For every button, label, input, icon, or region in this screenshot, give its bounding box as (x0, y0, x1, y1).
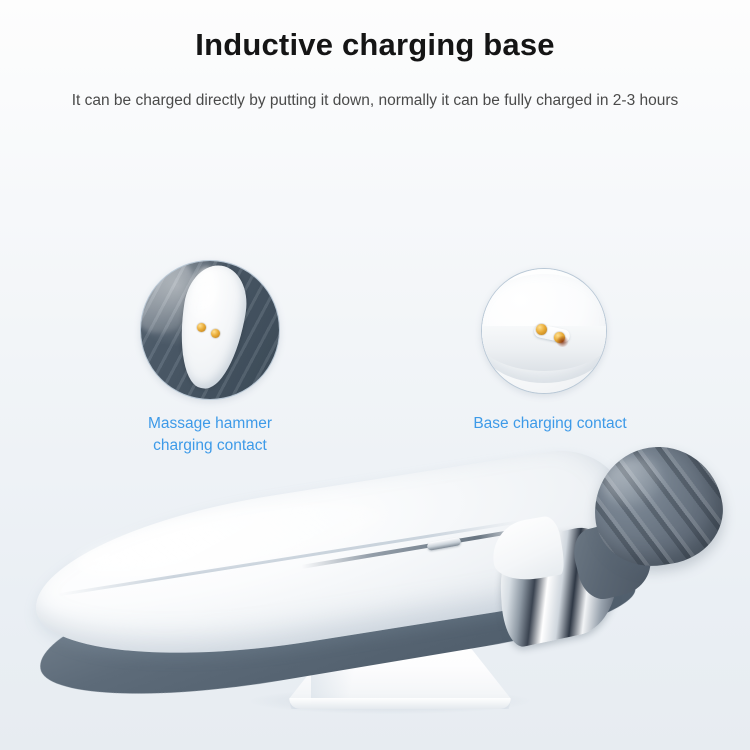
contact-pin-shadow (556, 336, 569, 347)
massage-hammer-caption: Massage hammer charging contact (115, 413, 305, 458)
base-contact-caption: Base charging contact (440, 413, 660, 435)
massage-hammer-detail-circle (140, 260, 280, 400)
contact-pin-1 (536, 324, 547, 335)
base-charging-contacts (532, 321, 572, 345)
base-contact-detail-circle (481, 268, 607, 394)
contact-pin-1 (197, 323, 206, 332)
hammer-charging-contacts (197, 323, 231, 339)
product-marketing-banner: Inductive charging base It can be charge… (0, 0, 750, 750)
page-title: Inductive charging base (0, 26, 750, 65)
contact-pin-2 (211, 329, 220, 338)
page-subtitle: It can be charged directly by putting it… (65, 88, 685, 113)
